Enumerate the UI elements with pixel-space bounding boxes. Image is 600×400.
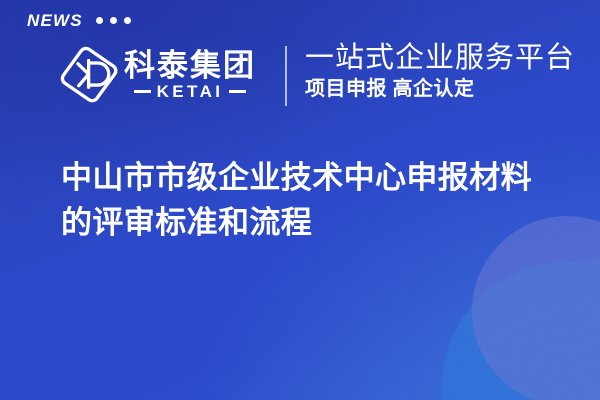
brand-lockup: 科泰集团 KETAI [58,42,256,108]
brand-slogan-divider [285,46,287,106]
brand-name-cn: 科泰集团 [124,50,256,82]
page-title: 中山市市级企业技术中心申报材料的评审标准和流程 [61,156,561,246]
slogan-main: 一站式企业服务平台 [305,42,575,74]
decorative-circle-soft [455,260,600,400]
slogan-sub: 项目申报 高企认定 [305,78,575,101]
brand-rule-right [229,90,246,93]
brand-text-block: 科泰集团 KETAI [124,50,256,100]
news-dots-icon [96,17,131,24]
brand-rule-left [134,90,151,93]
brand-name-en-row: KETAI [124,83,256,100]
news-eyebrow: NEWS [27,12,131,29]
decorative-circle-bright [442,262,600,400]
slogan-block: 一站式企业服务平台 项目申报 高企认定 [305,42,575,101]
news-label: NEWS [27,12,83,29]
ketai-logo-icon [58,44,120,106]
news-banner: NEWS 科泰集团 KETAI 一站式企业服务平台 [0,0,600,400]
brand-name-en: KETAI [157,83,224,100]
